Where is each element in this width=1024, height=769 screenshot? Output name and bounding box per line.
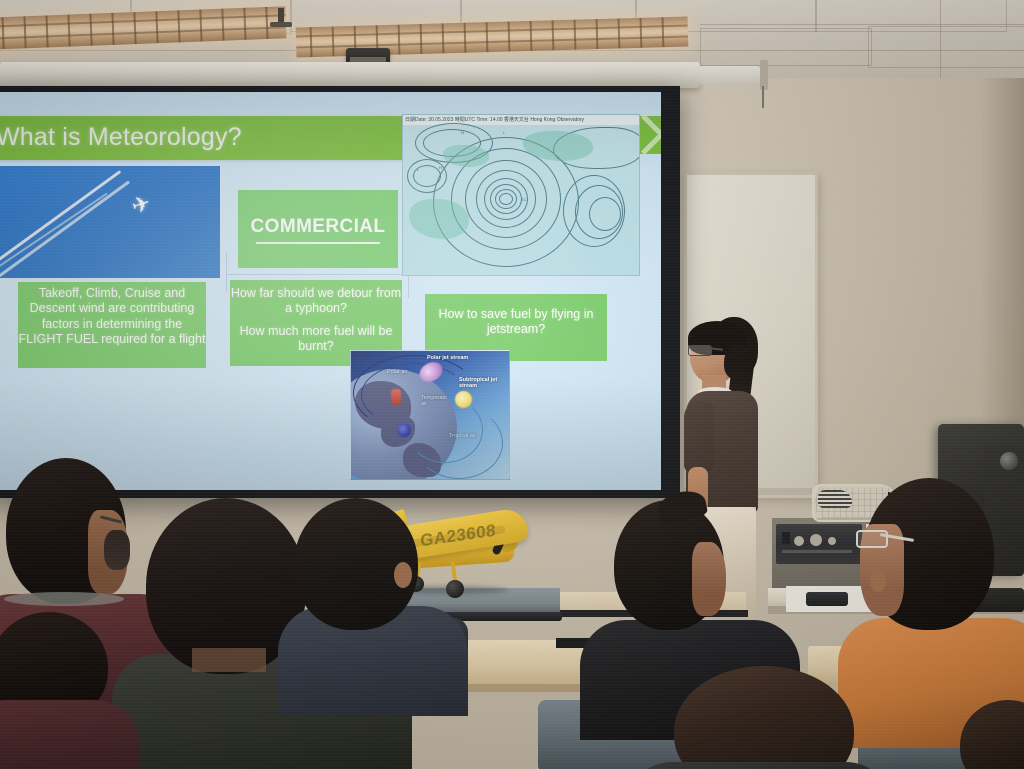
commercial-label: COMMERCIAL xyxy=(238,216,398,238)
student-black-face-edge xyxy=(692,542,726,616)
student-maroon-collar xyxy=(4,592,124,606)
presenter-sleeve xyxy=(684,401,714,473)
flight-fuel-line-1: Takeoff, Climb, Cruise and Descent wind … xyxy=(18,286,206,347)
student-navy xyxy=(288,496,448,696)
student-far-right xyxy=(960,700,1024,769)
student-foreground-shoulders xyxy=(626,762,892,769)
commercial-underline xyxy=(256,242,380,244)
projector-mount-plate xyxy=(270,22,292,27)
slide-weather-chart: 日期Date: 30.05.2023 時間UTC Time: 14.00 香港天… xyxy=(402,114,640,276)
slide-title-bar: What is Meteorology? xyxy=(0,116,415,160)
student-orange-ear xyxy=(870,570,886,592)
right-wall-shadow xyxy=(980,40,1024,440)
weather-label-low-left: L xyxy=(417,167,419,172)
student-foreground-head xyxy=(674,666,854,769)
label-subtropical-jet-stream: Subtropical jet stream xyxy=(459,377,503,390)
weather-label-high-left: H xyxy=(439,165,442,170)
airplane-icon: ✈ xyxy=(128,190,154,220)
label-polar-jet-stream: Polar jet stream xyxy=(427,355,468,361)
slide-photo-airplane-contrail: ✈ xyxy=(0,166,220,278)
slide-commercial-box: COMMERCIAL xyxy=(238,190,398,268)
projection-screen[interactable]: What is Meteorology? ✈ COMMERCIAL 日期Date… xyxy=(0,92,661,490)
student-far-right-head xyxy=(960,700,1024,769)
classroom-scene: What is Meteorology? ✈ COMMERCIAL 日期Date… xyxy=(0,0,1024,769)
monitor-knob[interactable] xyxy=(1000,452,1018,470)
label-tropical-air: Tropical air xyxy=(449,433,476,439)
student-corner-left-shoulders xyxy=(0,700,140,769)
label-polar-air: Polar air xyxy=(387,369,407,375)
student-olive-neck xyxy=(192,648,266,672)
weather-label-high-top: H xyxy=(461,130,464,135)
slide-textbox-flight-fuel: Takeoff, Climb, Cruise and Descent wind … xyxy=(18,282,206,368)
typhoon-line-1: How far should we detour from a typhoon? xyxy=(230,286,402,317)
student-navy-ear xyxy=(394,562,412,588)
projector-screen-housing-right xyxy=(700,66,760,84)
page-title: What is Meteorology? xyxy=(0,123,242,152)
weather-label-storm: TC xyxy=(521,197,526,202)
screen-pull-cord[interactable] xyxy=(762,86,764,108)
weather-label-low-top: L xyxy=(503,130,505,135)
slide-jetstream-diagram: Polar jet stream Subtropical jet stream … xyxy=(350,350,510,480)
model-airplane-wheel-right xyxy=(446,580,464,598)
label-temperate-air: Temperate air xyxy=(421,395,447,408)
student-corner-left xyxy=(0,612,110,769)
projector-screen-housing xyxy=(0,62,700,88)
presentation-slide[interactable]: What is Meteorology? ✈ COMMERCIAL 日期Date… xyxy=(0,92,661,490)
student-foreground xyxy=(632,666,882,769)
student-maroon-mask-strap xyxy=(104,530,130,570)
jetstream-line-1: How to save fuel by flying in jetstream? xyxy=(425,307,607,338)
